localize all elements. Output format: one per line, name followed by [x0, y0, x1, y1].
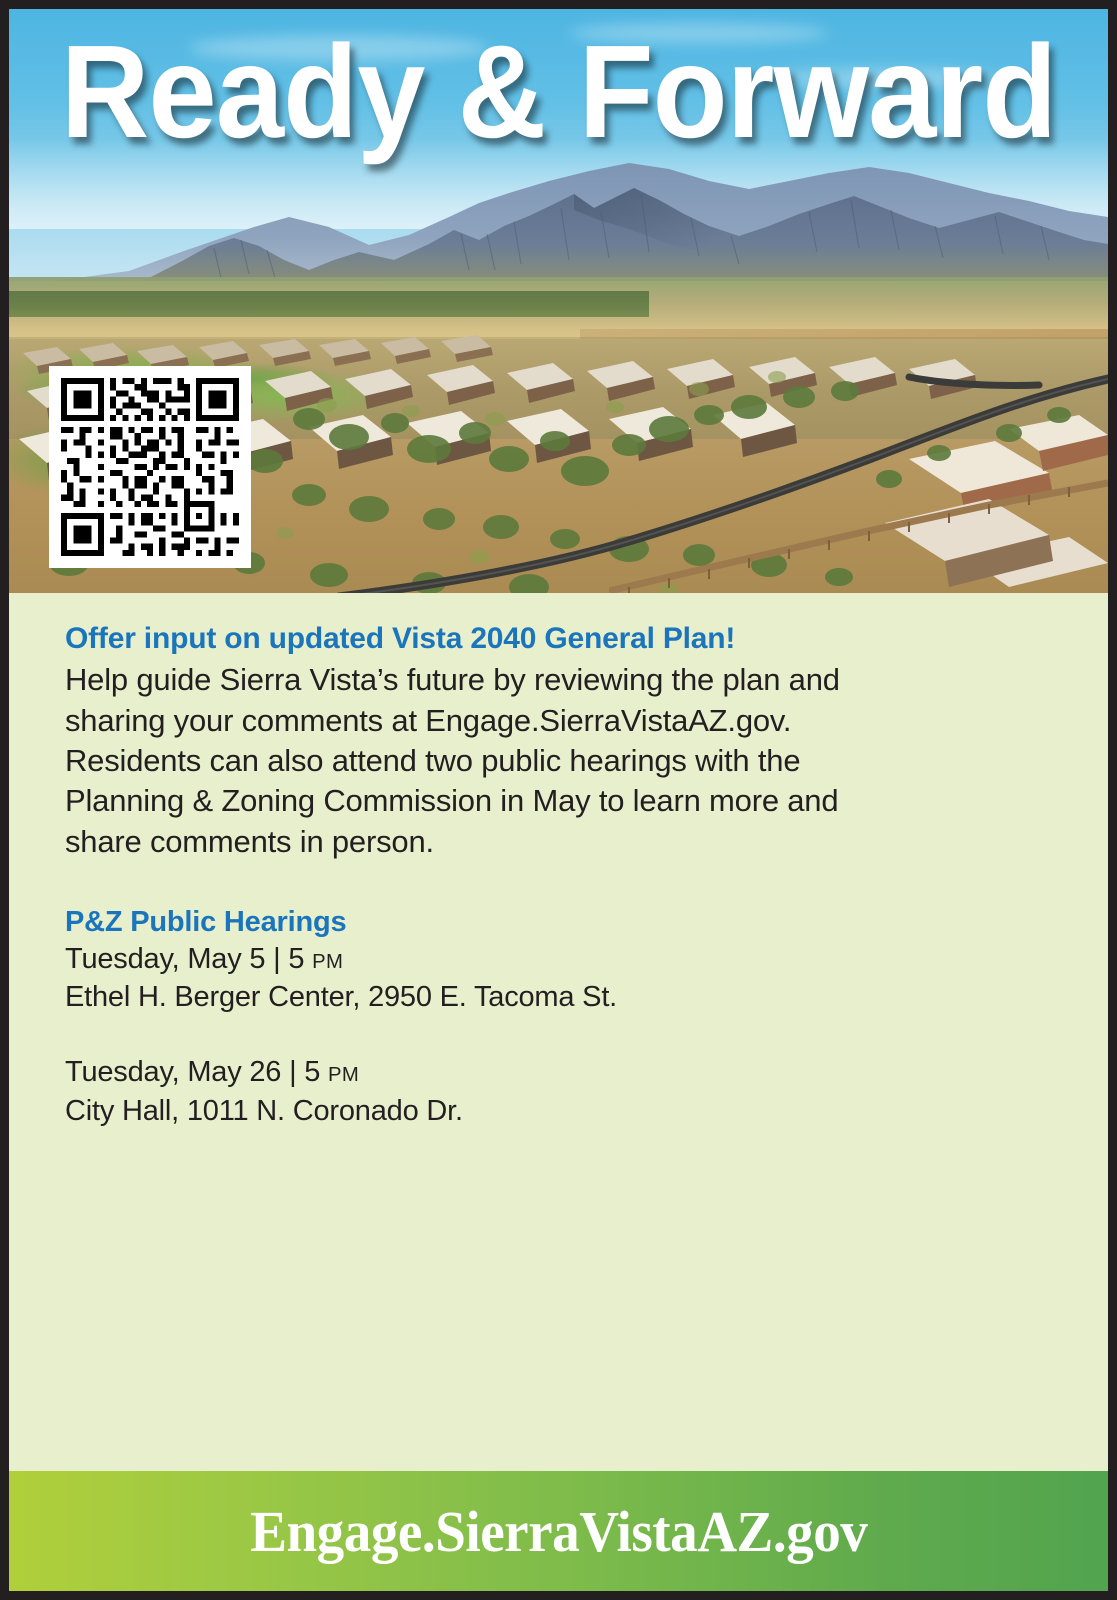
spacer [65, 1017, 1045, 1053]
paragraph-line: Help guide Sierra Vista’s future by revi… [65, 660, 1045, 700]
footer-url-band[interactable]: Engage.SierraVistaAZ.gov [9, 1471, 1108, 1591]
hearing-meridiem: PM [312, 951, 343, 973]
intro-paragraph: Help guide Sierra Vista’s future by revi… [65, 660, 1045, 861]
qr-code[interactable] [49, 366, 251, 568]
hearings-heading: P&Z Public Hearings [65, 906, 1045, 939]
paragraph-line: Planning & Zoning Commission in May to l… [65, 781, 1045, 821]
hero-photo: Ready & Forward [9, 9, 1108, 593]
paragraph-line: Residents can also attend two public hea… [65, 741, 1045, 781]
page-title: Ready & Forward [47, 26, 1069, 158]
lead-headline: Offer input on updated Vista 2040 Genera… [65, 620, 1045, 658]
hearing-date: Tuesday, May 26 | 5 [65, 1056, 328, 1088]
hearing-location: Ethel H. Berger Center, 2950 E. Tacoma S… [65, 978, 1045, 1017]
block-wall-fence [609, 459, 1108, 593]
hearing-location: City Hall, 1011 N. Coronado Dr. [65, 1092, 1045, 1131]
hearing-meridiem: PM [328, 1064, 359, 1086]
content-panel: VISTA 2040 SIERRA VISTA GENERAL PLAN Off… [9, 593, 1108, 1591]
hearing-item: Tuesday, May 26 | 5 PM City Hall, 1011 N… [65, 1053, 1045, 1130]
qr-code-icon [61, 378, 239, 556]
footer-url[interactable]: Engage.SierraVistaAZ.gov [250, 1498, 867, 1565]
hearing-item: Tuesday, May 5 | 5 PM Ethel H. Berger Ce… [65, 940, 1045, 1017]
hearing-date: Tuesday, May 5 | 5 [65, 943, 312, 975]
paragraph-line: share comments in person. [65, 822, 1045, 862]
poster: Ready & Forward [0, 0, 1117, 1600]
hearing-datetime: Tuesday, May 26 | 5 PM [65, 1053, 1045, 1092]
hearing-datetime: Tuesday, May 5 | 5 PM [65, 940, 1045, 979]
body-copy: Offer input on updated Vista 2040 Genera… [65, 620, 1045, 1130]
paragraph-line: sharing your comments at Engage.SierraVi… [65, 701, 1045, 741]
poster-inner: Ready & Forward [9, 9, 1108, 1591]
